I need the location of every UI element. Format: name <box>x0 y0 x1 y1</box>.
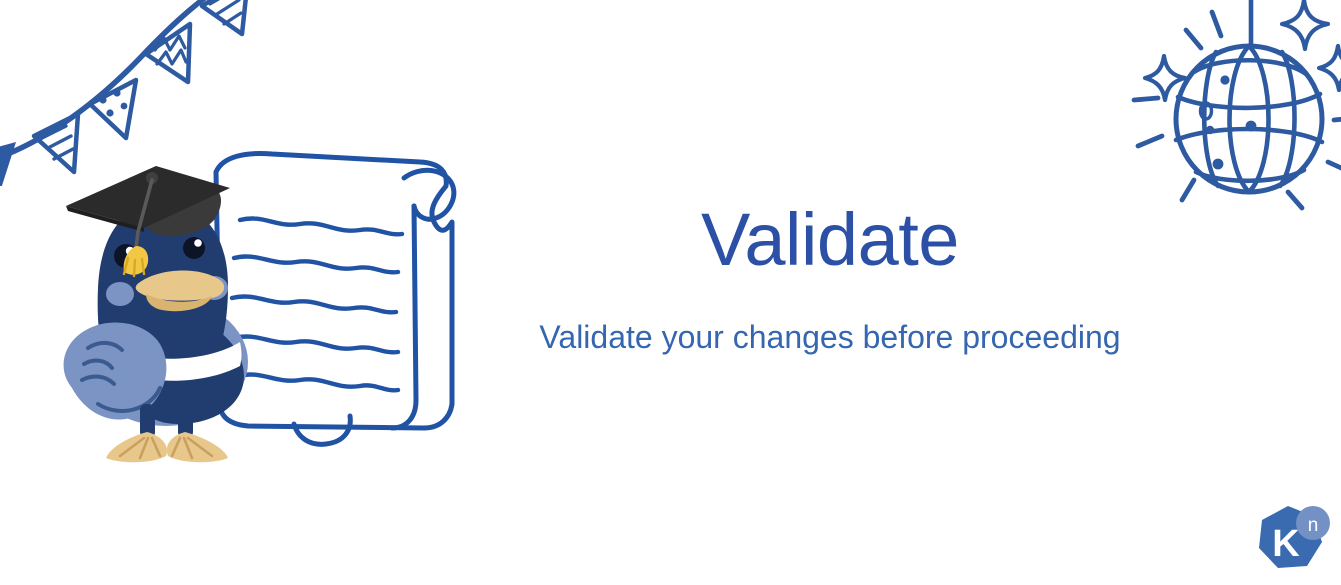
brand-logo: K n <box>1250 500 1332 578</box>
bunting-flag-solid <box>0 142 16 186</box>
diploma-scroll <box>216 154 454 445</box>
page-title: Validate <box>470 200 1190 280</box>
disco-ball-decoration <box>1122 0 1341 226</box>
slide-canvas: Validate Validate your changes before pr… <box>0 0 1341 585</box>
bird-foot-left <box>106 432 167 462</box>
bunting-flag-zigzag <box>146 24 190 82</box>
page-subtitle: Validate your changes before proceeding <box>470 318 1190 356</box>
bird-eye-right-glint <box>194 239 202 247</box>
sparkle-group <box>1145 0 1341 100</box>
logo-letter-n: n <box>1308 515 1319 536</box>
bird-eye-right <box>183 237 205 259</box>
mascot-illustration <box>48 136 468 472</box>
logo-letter-k: K <box>1272 523 1300 565</box>
text-block: Validate Validate your changes before pr… <box>470 200 1190 356</box>
bunting-flag-dots <box>90 80 136 138</box>
ray-group <box>1134 12 1341 208</box>
bird-cheek-left <box>106 282 134 306</box>
bunting-flag-stripes-2 <box>202 0 248 34</box>
